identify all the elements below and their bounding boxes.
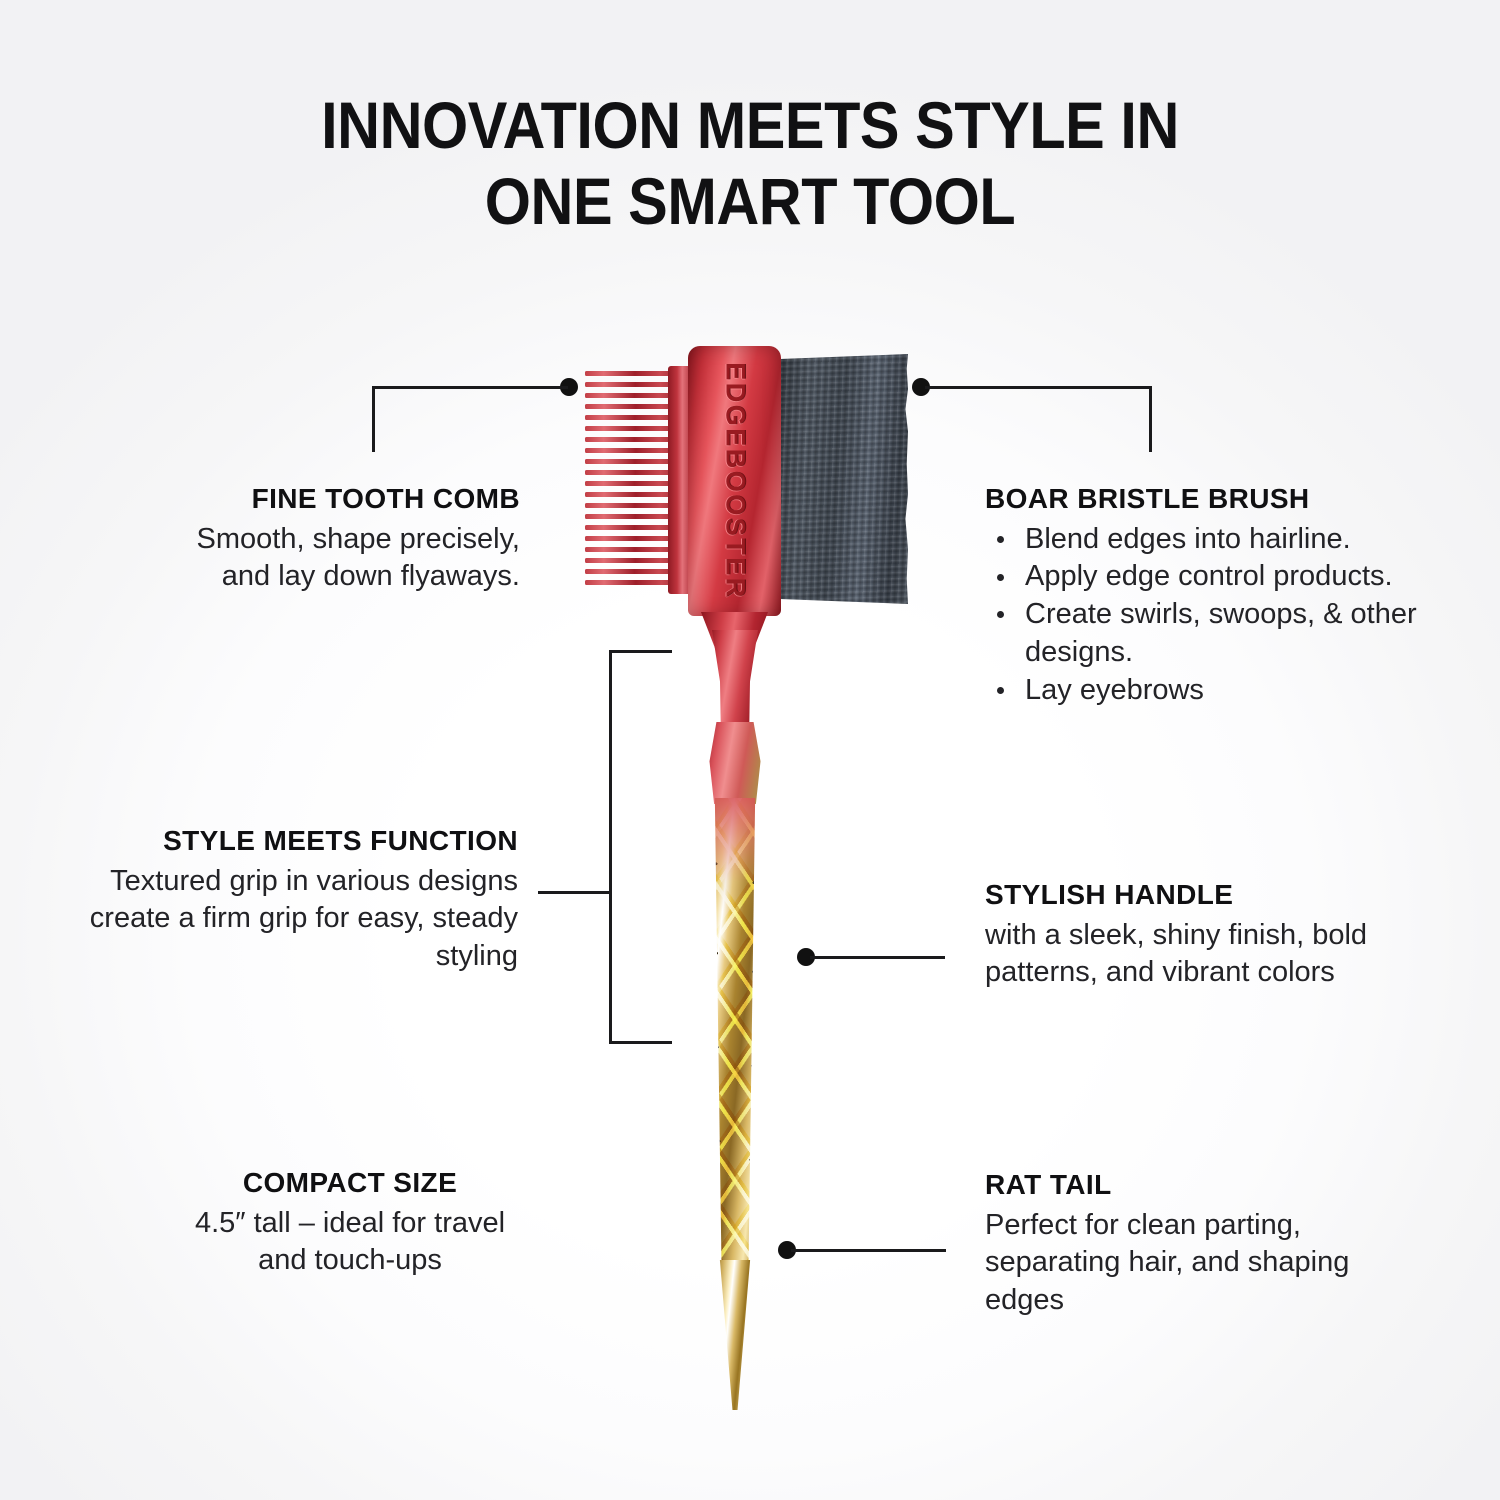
feature-body-rat-tail: Perfect for clean parting, separating ha… xyxy=(985,1207,1405,1320)
bullet-dot-icon xyxy=(997,536,1004,543)
leader-line-boar-bristle-brush-v xyxy=(1149,386,1152,452)
bullet-text: Blend edges into hairline. xyxy=(1025,523,1351,555)
leader-bracket-style-meets-function-v xyxy=(609,650,612,1044)
feature-heading-compact-size: COMPACT SIZE xyxy=(180,1168,520,1199)
feature-block-stylish-handle: STYLISH HANDLE with a sleek, shiny finis… xyxy=(985,880,1415,992)
handle-red-gradient-overlay xyxy=(697,792,773,912)
feature-body-stylish-handle: with a sleek, shiny finish, bold pattern… xyxy=(985,917,1415,992)
boar-bristle-tuft xyxy=(780,354,908,604)
handle-bulb xyxy=(706,722,764,804)
feature-block-fine-tooth-comb: FINE TOOTH COMB Smooth, shape precisely,… xyxy=(150,484,520,596)
leader-bracket-style-meets-function-bottom xyxy=(609,1041,672,1044)
feature-heading-boar-bristle-brush: BOAR BRISTLE BRUSH xyxy=(985,484,1455,515)
bullet-dot-icon xyxy=(997,687,1004,694)
title-line-1: INNOVATION MEETS STYLE IN xyxy=(321,88,1179,162)
brush-head-body: EDGEBOOSTER xyxy=(688,346,781,616)
page-title: INNOVATION MEETS STYLE IN ONE SMART TOOL xyxy=(75,88,1425,240)
feature-body-style-meets-function: Textured grip in various designs create … xyxy=(88,863,518,976)
list-item: Apply edge control products. xyxy=(985,558,1455,596)
leader-line-boar-bristle-brush-h xyxy=(925,386,1152,389)
feature-block-style-meets-function: STYLE MEETS FUNCTION Textured grip in va… xyxy=(88,826,518,976)
feature-heading-rat-tail: RAT TAIL xyxy=(985,1170,1405,1201)
leader-line-stylish-handle xyxy=(810,956,945,959)
feature-block-rat-tail: RAT TAIL Perfect for clean parting, sepa… xyxy=(985,1170,1405,1320)
infographic-canvas: INNOVATION MEETS STYLE IN ONE SMART TOOL xyxy=(0,0,1500,1500)
feature-bullet-list-boar-bristle-brush: Blend edges into hairline. Apply edge co… xyxy=(985,521,1455,709)
leader-line-style-meets-function-stem xyxy=(538,891,611,894)
feature-block-boar-bristle-brush: BOAR BRISTLE BRUSH Blend edges into hair… xyxy=(985,484,1455,709)
leader-line-fine-tooth-comb-v xyxy=(372,386,375,452)
title-line-2: ONE SMART TOOL xyxy=(485,164,1016,238)
feature-heading-stylish-handle: STYLISH HANDLE xyxy=(985,880,1415,911)
leader-line-fine-tooth-comb-h xyxy=(372,386,568,389)
bullet-dot-icon xyxy=(997,611,1004,618)
bullet-text: Apply edge control products. xyxy=(1025,560,1393,592)
feature-body-compact-size: 4.5″ tall – ideal for travel and touch-u… xyxy=(180,1205,520,1280)
bullet-text: Create swirls, swoops, & other designs. xyxy=(1025,598,1417,668)
list-item: Lay eyebrows xyxy=(985,672,1455,710)
brand-emboss-label: EDGEBOOSTER xyxy=(719,362,750,600)
bullet-text: Lay eyebrows xyxy=(1025,674,1204,706)
leader-line-rat-tail xyxy=(791,1249,946,1252)
feature-heading-fine-tooth-comb: FINE TOOTH COMB xyxy=(150,484,520,515)
feature-block-compact-size: COMPACT SIZE 4.5″ tall – ideal for trave… xyxy=(180,1168,520,1280)
product-image-edgebooster-brush: EDGEBOOSTER xyxy=(560,330,940,1415)
leader-bracket-style-meets-function-top xyxy=(609,650,672,653)
bullet-dot-icon xyxy=(997,574,1004,581)
rat-tail-point xyxy=(714,1260,756,1410)
feature-body-fine-tooth-comb: Smooth, shape precisely, and lay down fl… xyxy=(150,521,520,596)
gold-textured-handle xyxy=(707,798,763,1268)
list-item: Create swirls, swoops, & other designs. xyxy=(985,596,1455,671)
feature-heading-style-meets-function: STYLE MEETS FUNCTION xyxy=(88,826,518,857)
list-item: Blend edges into hairline. xyxy=(985,521,1455,559)
